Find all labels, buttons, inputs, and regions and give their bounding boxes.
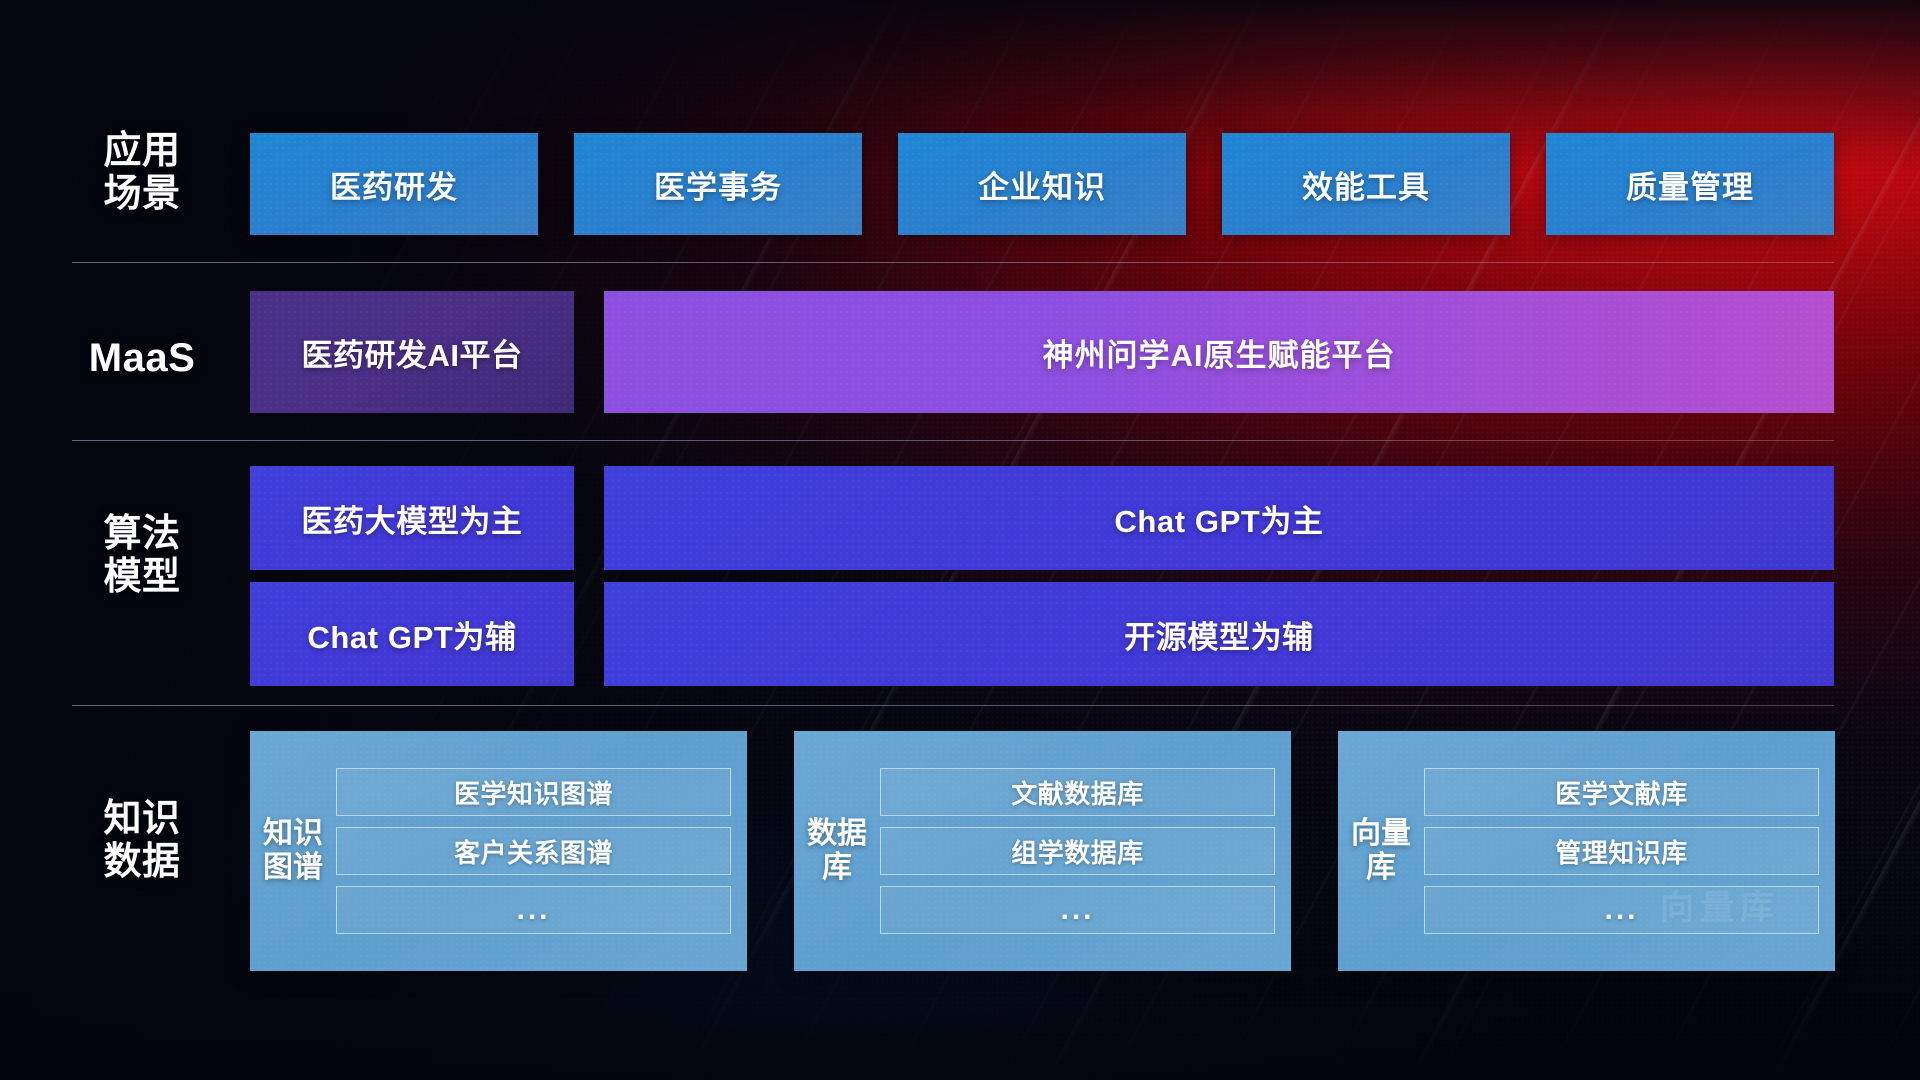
row-label-application-scenarios: 应用 场景 [72, 130, 212, 215]
knowledge-item[interactable]: 管理知识库 [1424, 827, 1819, 875]
divider-3 [72, 705, 1834, 706]
algo-box-left-1-label: 医药大模型为主 [301, 496, 522, 541]
knowledge-item[interactable]: 文献数据库 [880, 768, 1275, 816]
slide-canvas: 应用 场景 医药研发 医学事务 企业知识 效能工具 质量管理 MaaS 医药研发… [0, 0, 1920, 1080]
maas-right-box[interactable]: 神州问学AI原生赋能平台 [604, 291, 1834, 413]
knowledge-panel-3-title: 向量库 [1338, 817, 1424, 884]
app-box-5[interactable]: 质量管理 [1546, 133, 1834, 235]
knowledge-item-more[interactable]: ... [336, 886, 731, 934]
knowledge-panel-1-title: 知识图谱 [250, 817, 336, 884]
row-label-knowledge-data: 知识 数据 [72, 798, 212, 883]
knowledge-item[interactable]: 医学文献库 [1424, 768, 1819, 816]
app-box-2-label: 医学事务 [654, 162, 782, 207]
knowledge-item[interactable]: 医学知识图谱 [336, 768, 731, 816]
algo-box-left-2[interactable]: Chat GPT为辅 [250, 582, 574, 686]
knowledge-panel-2-title: 数据库 [794, 817, 880, 884]
maas-left-box[interactable]: 医药研发AI平台 [250, 291, 574, 413]
app-box-3[interactable]: 企业知识 [898, 133, 1186, 235]
divider-1 [72, 262, 1834, 263]
knowledge-item[interactable]: 客户关系图谱 [336, 827, 731, 875]
app-box-1-label: 医药研发 [330, 162, 458, 207]
app-box-5-label: 质量管理 [1626, 162, 1754, 207]
knowledge-panel-3[interactable]: 向量库 医学文献库 管理知识库 ... [1338, 731, 1835, 971]
divider-2 [72, 440, 1834, 441]
app-box-1[interactable]: 医药研发 [250, 133, 538, 235]
knowledge-panel-2[interactable]: 数据库 文献数据库 组学数据库 ... [794, 731, 1291, 971]
maas-right-label: 神州问学AI原生赋能平台 [1043, 330, 1396, 375]
knowledge-panel-1[interactable]: 知识图谱 医学知识图谱 客户关系图谱 ... [250, 731, 747, 971]
knowledge-panel-1-items: 医学知识图谱 客户关系图谱 ... [336, 768, 731, 934]
app-box-4-label: 效能工具 [1302, 162, 1430, 207]
app-box-3-label: 企业知识 [978, 162, 1106, 207]
algo-box-right-2[interactable]: 开源模型为辅 [604, 582, 1834, 686]
knowledge-item[interactable]: 组学数据库 [880, 827, 1275, 875]
algo-box-right-1[interactable]: Chat GPT为主 [604, 466, 1834, 570]
knowledge-panel-3-items: 医学文献库 管理知识库 ... [1424, 768, 1819, 934]
algo-box-right-1-label: Chat GPT为主 [1114, 496, 1323, 541]
app-box-4[interactable]: 效能工具 [1222, 133, 1510, 235]
row-label-algorithm-model: 算法 模型 [72, 513, 212, 598]
algo-box-left-2-label: Chat GPT为辅 [307, 612, 516, 657]
knowledge-panel-2-items: 文献数据库 组学数据库 ... [880, 768, 1275, 934]
knowledge-item-more[interactable]: ... [880, 886, 1275, 934]
knowledge-item-more[interactable]: ... [1424, 886, 1819, 934]
algo-box-right-2-label: 开源模型为辅 [1124, 612, 1314, 657]
app-box-2[interactable]: 医学事务 [574, 133, 862, 235]
row-label-maas: MaaS [72, 336, 212, 381]
algo-box-left-1[interactable]: 医药大模型为主 [250, 466, 574, 570]
maas-left-label: 医药研发AI平台 [302, 330, 523, 375]
